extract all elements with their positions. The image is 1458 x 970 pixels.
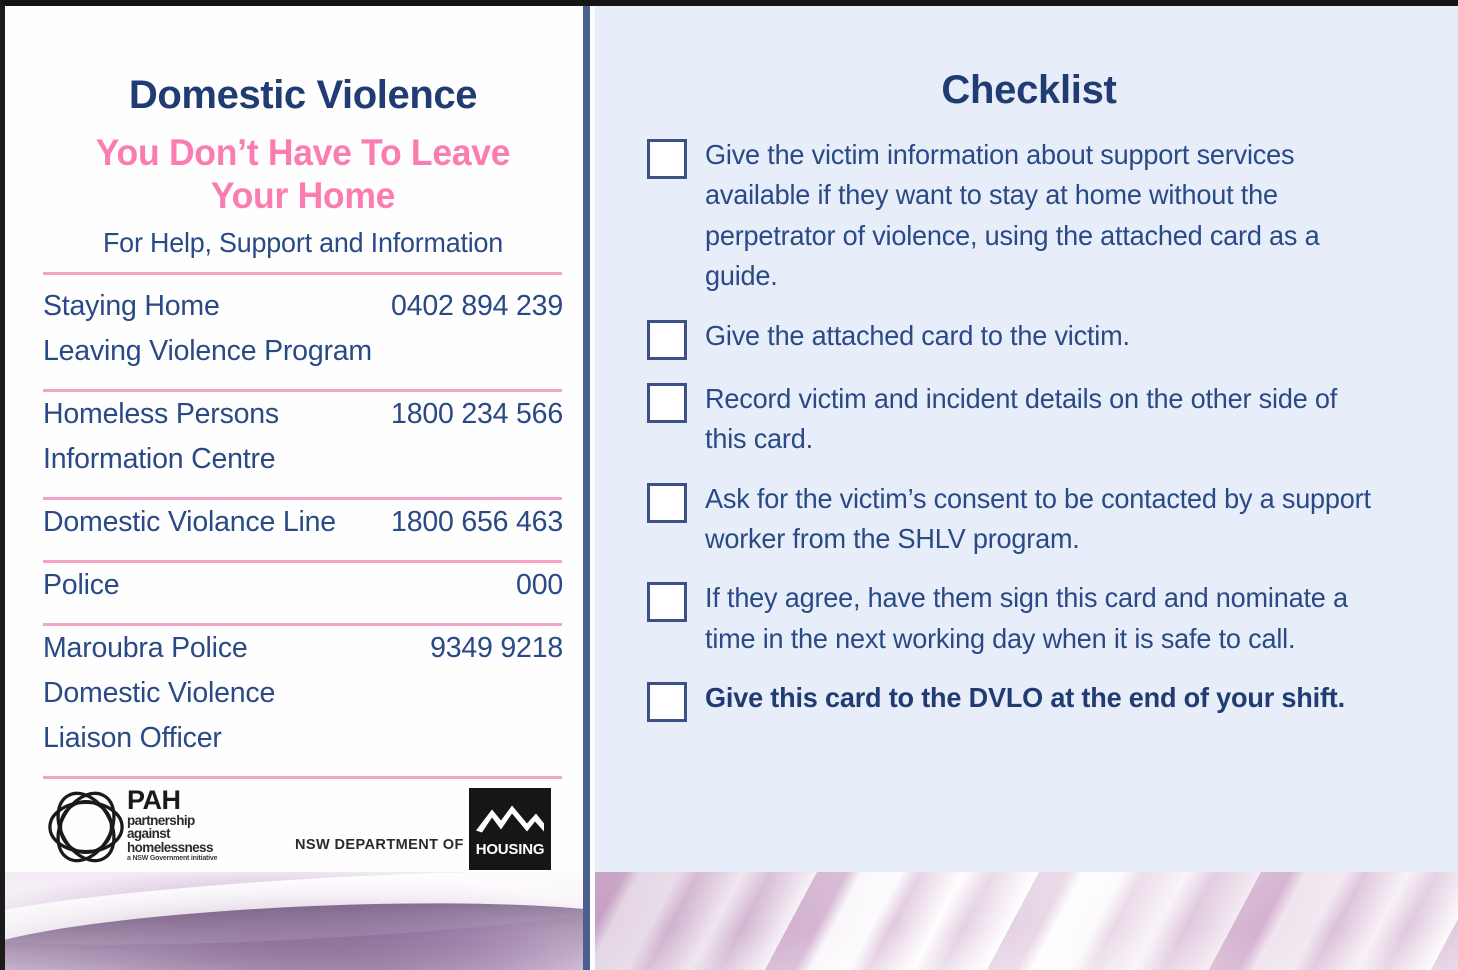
decorative-band-right (595, 872, 1458, 970)
contact-name-line2: Domestic Violence (43, 671, 563, 716)
checklist-item[interactable]: Give the victim information about suppor… (647, 135, 1395, 316)
checklist-item[interactable]: Give this card to the DVLO at the end of… (647, 678, 1395, 741)
rooftop-icon (475, 800, 545, 838)
pah-line-1: partnership (127, 814, 223, 828)
checklist-item[interactable]: If they agree, have them sign this card … (647, 578, 1395, 678)
contact-name: Domestic Violance Line (43, 500, 336, 545)
checklist-item[interactable]: Ask for the victim’s consent to be conta… (647, 479, 1395, 579)
contact-name: Police (43, 563, 119, 608)
dv-information-card: Domestic Violence You Don’t Have To Leav… (0, 0, 1458, 970)
checklist-item-label: Give this card to the DVLO at the end of… (705, 678, 1345, 718)
nsw-housing-text: HOUSING (469, 841, 551, 858)
contact-name-line3: Liaison Officer (43, 716, 563, 761)
pah-logo-text: PAH partnership against homelessness a N… (127, 788, 223, 863)
panel-divider-gap (590, 6, 595, 970)
contact-row: Staying Home 0402 894 239 Leaving Violen… (43, 284, 563, 376)
checklist-item-label: Record victim and incident details on th… (705, 379, 1385, 460)
contact-row: Maroubra Police 9349 9218 Domestic Viole… (43, 626, 563, 763)
contact-name: Staying Home (43, 284, 220, 329)
checkbox-icon[interactable] (647, 582, 687, 622)
nsw-department-text: NSW DEPARTMENT OF (295, 836, 464, 853)
contact-name-line2: Leaving Violence Program (43, 329, 563, 374)
nsw-logo-box: HOUSING (469, 788, 551, 870)
contact-name-line2: Information Centre (43, 437, 563, 482)
divider-rule (43, 776, 562, 779)
pah-logo: PAH partnership against homelessness a N… (43, 784, 223, 870)
checklist-item[interactable]: Record victim and incident details on th… (647, 379, 1395, 479)
contact-list: Staying Home 0402 894 239 Leaving Violen… (43, 275, 563, 779)
pah-acronym: PAH (127, 788, 223, 814)
contact-row: Domestic Violance Line 1800 656 463 (43, 500, 563, 547)
checkbox-icon[interactable] (647, 682, 687, 722)
panel-divider (583, 6, 590, 970)
checklist-item-label: Give the attached card to the victim. (705, 316, 1130, 356)
contact-number: 9349 9218 (430, 626, 563, 671)
contact-number: 1800 234 566 (391, 392, 563, 437)
checklist-item[interactable]: Give the attached card to the victim. (647, 316, 1395, 379)
checkbox-icon[interactable] (647, 139, 687, 179)
subtitle: For Help, Support and Information (53, 217, 552, 259)
pah-line-3: homelessness (127, 841, 223, 855)
checklist-title: Checklist (595, 6, 1458, 113)
checklist: Give the victim information about suppor… (595, 113, 1395, 741)
contact-row: Homeless Persons 1800 234 566 Informatio… (43, 392, 563, 484)
pah-fine-print: a NSW Government initiative (127, 854, 223, 863)
contact-name: Homeless Persons (43, 392, 279, 437)
checkbox-icon[interactable] (647, 320, 687, 360)
checklist-item-label: If they agree, have them sign this card … (705, 578, 1385, 659)
tagline-heading: You Don’t Have To Leave Your Home (53, 116, 552, 217)
left-panel-content: Domestic Violence You Don’t Have To Leav… (43, 6, 563, 779)
contact-number: 000 (516, 563, 563, 608)
decorative-band-left (5, 872, 583, 970)
checkbox-icon[interactable] (647, 383, 687, 423)
contact-name: Maroubra Police (43, 626, 248, 671)
contact-number: 1800 656 463 (391, 500, 563, 545)
checklist-item-label: Ask for the victim’s consent to be conta… (705, 479, 1385, 560)
logo-strip: PAH partnership against homelessness a N… (43, 784, 563, 872)
pah-line-2: against (127, 827, 223, 841)
left-panel: Domestic Violence You Don’t Have To Leav… (5, 6, 583, 970)
checklist-item-label: Give the victim information about suppor… (705, 135, 1385, 297)
right-panel: Checklist Give the victim information ab… (595, 6, 1458, 970)
decorative-bottom-band (5, 866, 1458, 970)
nsw-housing-logo: NSW DEPARTMENT OF HOUSING (295, 788, 565, 870)
page-title: Domestic Violence (43, 6, 563, 116)
checkbox-icon[interactable] (647, 483, 687, 523)
contact-row: Police 000 (43, 563, 563, 610)
contact-number: 0402 894 239 (391, 284, 563, 329)
pah-rings-icon (45, 786, 127, 868)
